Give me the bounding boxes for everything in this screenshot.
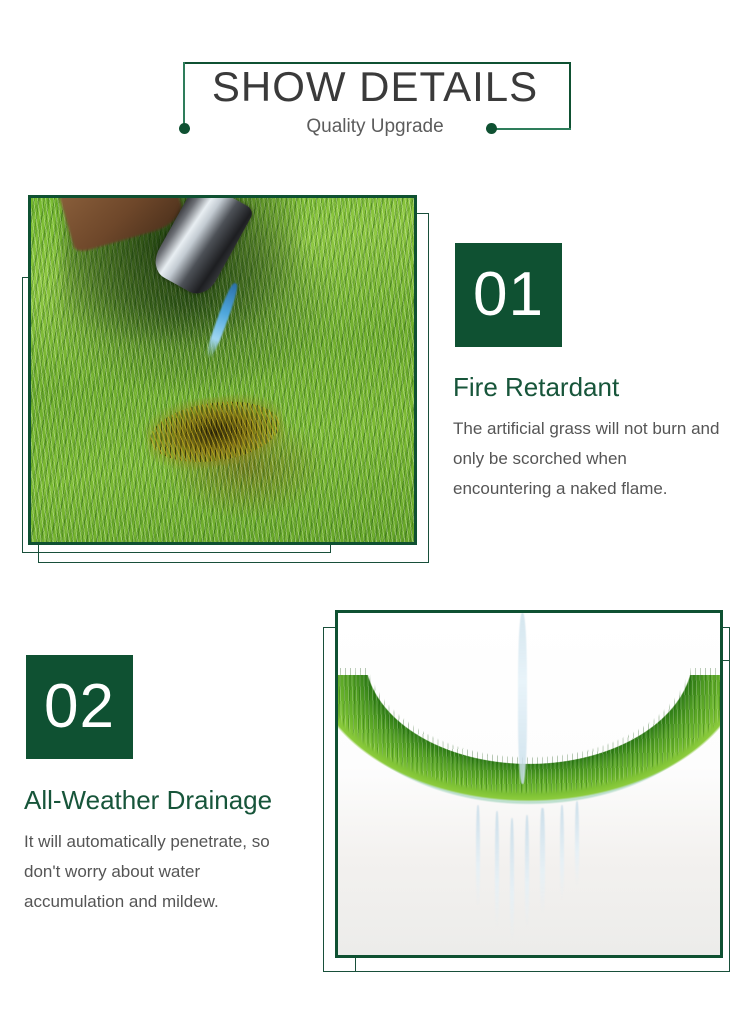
feature-02-photo	[335, 610, 723, 958]
page-subtitle: Quality Upgrade	[0, 115, 750, 139]
water-stream-icon	[518, 613, 528, 784]
page-header: SHOW DETAILS Quality Upgrade	[0, 0, 750, 175]
water-drip	[540, 808, 544, 914]
water-drip	[575, 801, 579, 887]
water-drip	[560, 805, 564, 901]
page-title: SHOW DETAILS	[0, 62, 750, 112]
feature-02-description: It will automatically penetrate, so don'…	[24, 827, 304, 917]
feature-01-photo	[28, 195, 417, 545]
water-drip	[495, 811, 499, 927]
water-drip	[476, 805, 480, 908]
feature-01-description: The artificial grass will not burn and o…	[453, 414, 721, 504]
feature-02-number-badge: 02	[26, 655, 133, 759]
turf-blade-texture	[335, 668, 723, 866]
feature-01-number-badge: 01	[455, 243, 562, 347]
feature-01-photo-art	[31, 198, 414, 542]
product-detail-page: SHOW DETAILS Quality Upgrade 01 Fire Ret…	[0, 0, 750, 1013]
feature-02-photo-art	[338, 613, 720, 955]
feature-02-title: All-Weather Drainage	[24, 784, 272, 816]
water-drip	[510, 818, 514, 941]
feature-01-title: Fire Retardant	[453, 371, 619, 403]
